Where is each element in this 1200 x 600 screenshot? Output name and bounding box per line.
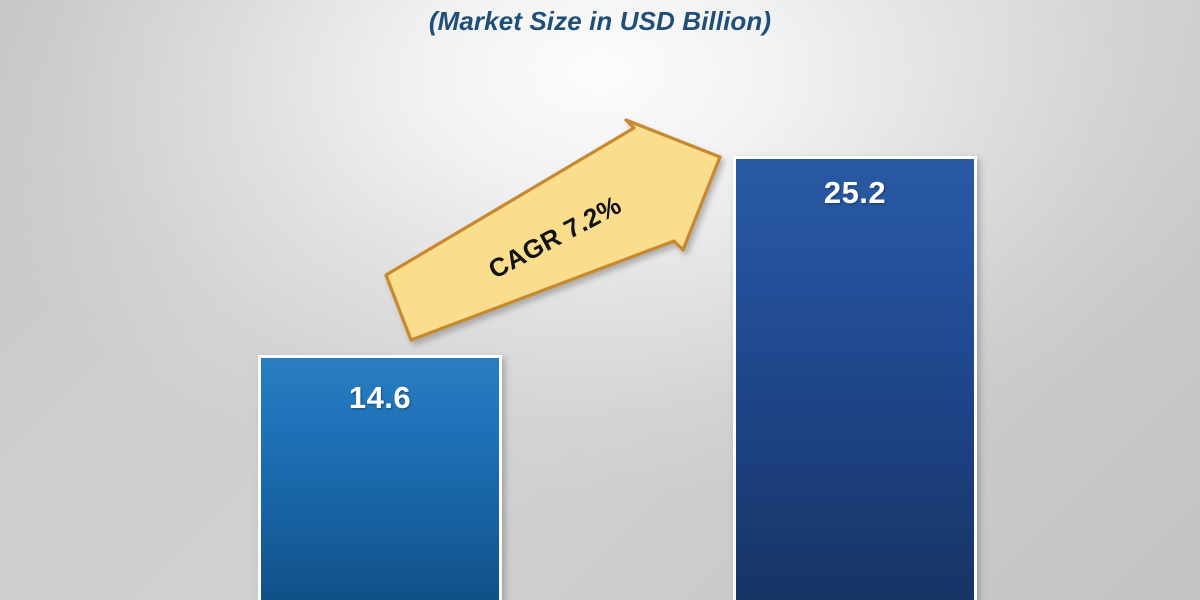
bar-value-2018: 14.6 [261, 380, 499, 416]
bar-2028: 25.2 [733, 156, 977, 600]
chart-canvas: Global Market Forecast (Market Size in U… [0, 0, 1200, 600]
bar-value-2028: 25.2 [736, 175, 974, 211]
chart-subtitle: (Market Size in USD Billion) [0, 6, 1200, 36]
cagr-label: CAGR 7.2% [459, 177, 650, 298]
bar-2018: 14.6 [258, 355, 502, 600]
